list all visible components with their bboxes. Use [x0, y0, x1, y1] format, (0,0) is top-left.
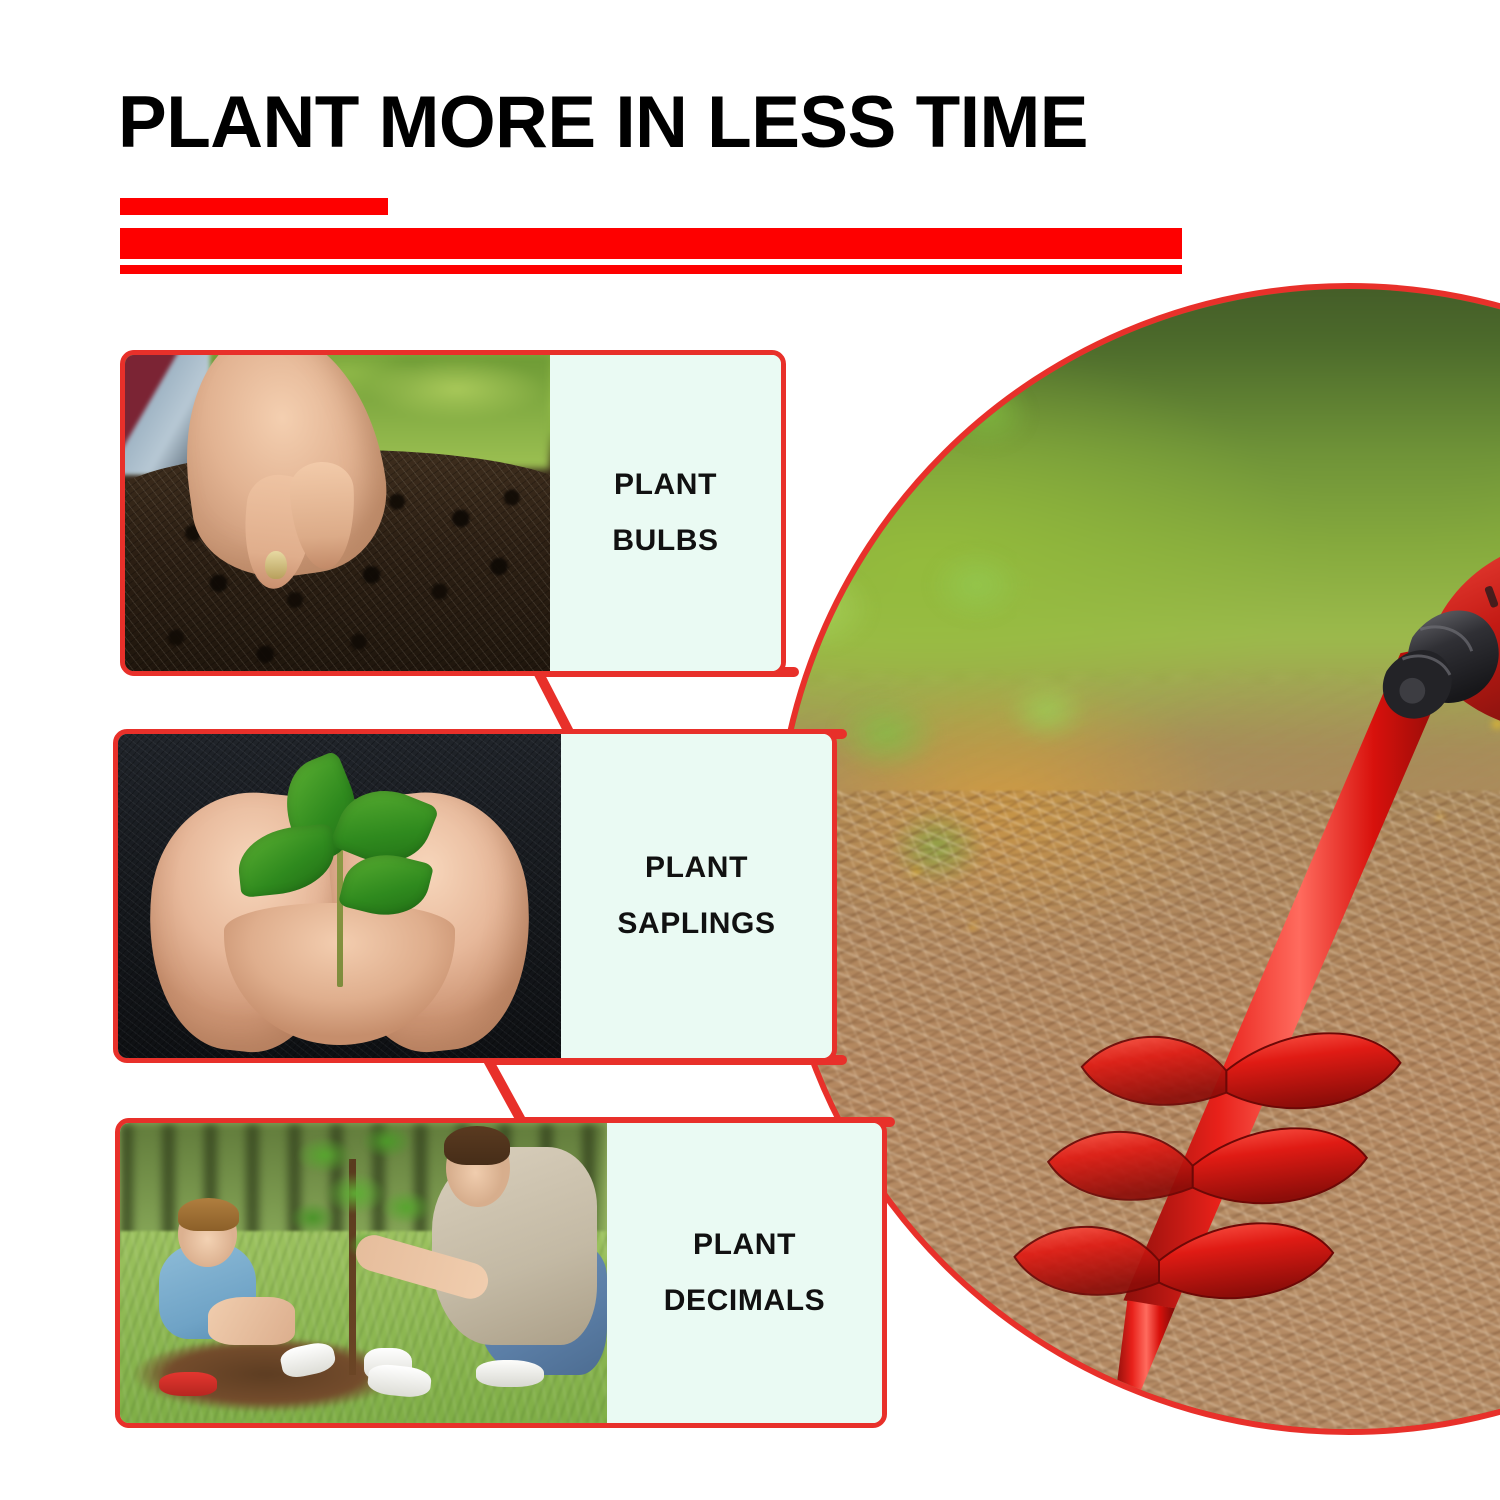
accent-rule-thick: [120, 228, 1182, 259]
page-title: PLANT MORE IN LESS TIME: [118, 86, 1088, 159]
accent-rule-thin: [120, 265, 1182, 274]
feature-label-line1: PLANT: [614, 470, 717, 500]
feature-label-line2: DECIMALS: [664, 1286, 825, 1316]
bulb-seed-icon: [265, 551, 286, 579]
feature-label-line2: BULBS: [612, 526, 718, 556]
man-shoe-icon: [476, 1360, 544, 1387]
accent-rule-short: [120, 198, 388, 215]
feature-photo-plant-decimals: [120, 1123, 607, 1423]
feature-label-plant-decimals: PLANT DECIMALS: [607, 1123, 882, 1423]
feature-photo-plant-saplings: [118, 734, 561, 1058]
hero-photo-inner: KOK: [779, 289, 1500, 1429]
feature-label-line2: SAPLINGS: [617, 909, 775, 939]
boy-hair-icon: [178, 1198, 239, 1231]
feature-label-line1: PLANT: [645, 853, 748, 883]
feature-photo-plant-bulbs: [125, 355, 550, 671]
feature-label-plant-bulbs: PLANT BULBS: [550, 355, 781, 671]
feature-label-line1: PLANT: [693, 1230, 796, 1260]
feature-card-plant-saplings[interactable]: PLANT SAPLINGS: [113, 729, 837, 1063]
man-hair-icon: [444, 1126, 510, 1165]
feature-card-plant-decimals[interactable]: PLANT DECIMALS: [115, 1118, 887, 1428]
feature-label-plant-saplings: PLANT SAPLINGS: [561, 734, 832, 1058]
product-infographic: PLANT MORE IN LESS TIME: [0, 0, 1500, 1500]
garden-auger-tool-icon: KOK: [779, 289, 1500, 1429]
feature-card-plant-bulbs[interactable]: PLANT BULBS: [120, 350, 786, 676]
boy-leg-icon: [208, 1297, 296, 1345]
boy-shoe-icon: [159, 1372, 217, 1396]
